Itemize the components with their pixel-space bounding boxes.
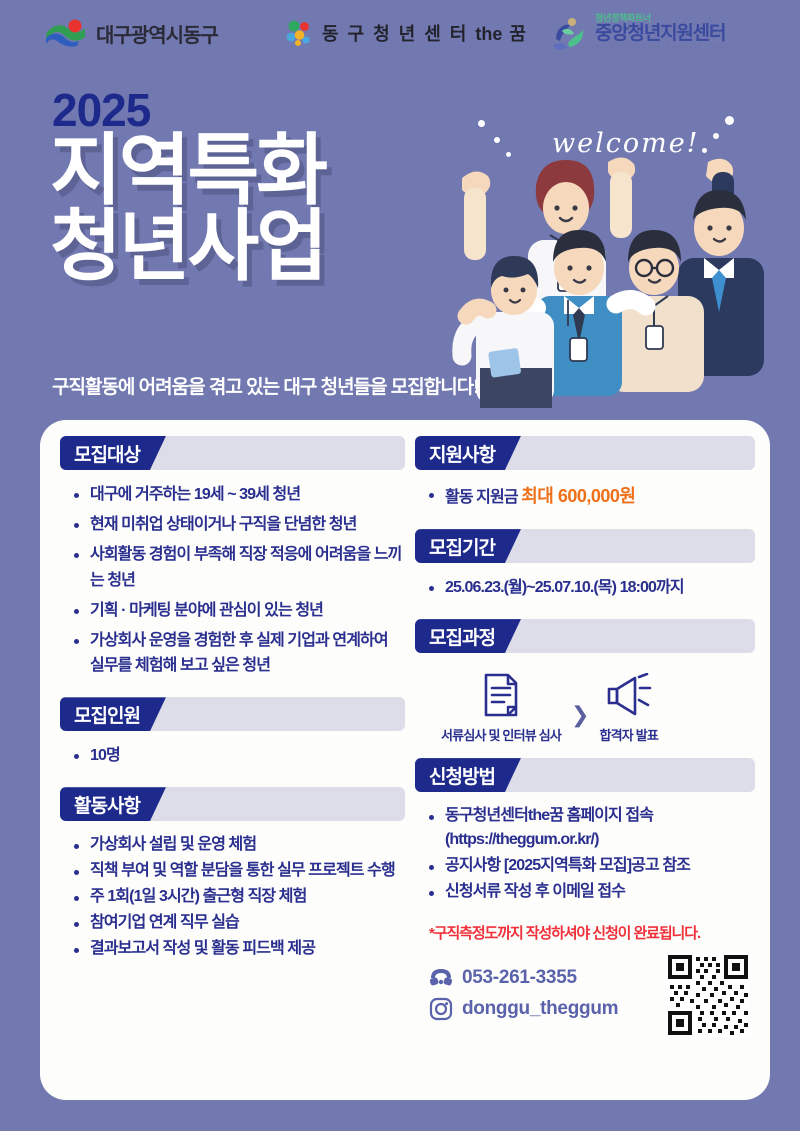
list-item: 직책 부여 및 역할 분담을 통한 실무 프로젝트 수행: [74, 859, 405, 883]
decor-dot: [725, 116, 734, 125]
contact-instagram: donggu_theggum: [462, 998, 618, 1020]
logo-bar: 대구광역시동구 동 구 청 년 센 터 the 꿈: [0, 0, 800, 66]
list-item: 대구에 거주하는 19세 ~ 39세 청년: [74, 482, 405, 508]
process-arrow-icon: ❯: [571, 702, 589, 728]
content-card: 모집대상 대구에 거주하는 19세 ~ 39세 청년 현재 미취업 상태이거나 …: [40, 420, 770, 1100]
section-label-apply: 신청방법: [415, 758, 521, 792]
qr-code-icon[interactable]: [666, 953, 750, 1042]
donggu-center-en: the: [475, 24, 502, 44]
list-item: 가상회사 운영을 경험한 후 실제 기업과 연계하여 실무를 체험해 보고 싶은…: [74, 628, 405, 680]
list-item: 10명: [74, 743, 405, 769]
apply-list: 동구청년센터the꿈 홈페이지 접속 (https://theggum.or.k…: [415, 804, 755, 904]
cheering-people-illustration: welcome!: [440, 100, 800, 430]
list-item: 25.06.23.(월)~25.07.10.(목) 18:00까지: [429, 575, 755, 601]
list-item: 결과보고서 작성 및 활동 피드백 제공: [74, 937, 405, 961]
list-item: 사회활동 경험이 부족해 직장 적응에 어려움을 느끼는 청년: [74, 542, 405, 594]
page-title: 지역특화 청년사업: [50, 132, 325, 285]
list-item: 활동 지원금 최대 600,000원: [429, 482, 755, 511]
contact-block: 053-261-3355 donggu_theggum: [415, 953, 755, 1042]
welcome-script-text: welcome!: [552, 128, 700, 159]
donggu-center-kr: 동 구 청 년 센 터: [322, 24, 468, 44]
decor-dot: [478, 120, 485, 127]
national-youth-support-center-logo: 청년정책파트너 중앙청년지원센터 National Youth Support …: [548, 13, 736, 53]
nysc-name: 중앙청년지원센터: [595, 24, 736, 43]
nysc-leaf-icon: [548, 13, 588, 53]
nysc-tagline: 청년정책파트너: [595, 14, 736, 23]
megaphone-announce-icon: [599, 671, 658, 719]
decor-dot: [506, 152, 511, 157]
contact-info: 053-261-3355 donggu_theggum: [429, 967, 618, 1029]
headcount-list: 10명: [60, 743, 405, 769]
contact-phone-row: 053-261-3355: [429, 967, 618, 989]
daegu-donggu-logo-text: 대구광역시동구: [96, 19, 218, 48]
section-label-support: 지원사항: [415, 436, 521, 470]
section-label-headcount: 모집인원: [60, 697, 166, 731]
decor-dot: [494, 137, 500, 143]
donggu-youth-center-logo-text: 동 구 청 년 센 터 the 꿈: [322, 20, 528, 46]
process-steps: 서류심사 및 인터뷰 심사 ❯ 합격자 발표: [415, 665, 755, 744]
decor-dot: [713, 133, 719, 139]
document-review-icon: [441, 671, 561, 719]
section-label-target: 모집대상: [60, 436, 166, 470]
list-item: 공지사항 [2025지역특화 모집]공고 참조: [429, 854, 755, 878]
list-item: 가상회사 설립 및 운영 체험: [74, 833, 405, 857]
section-header-process: 모집과정: [415, 619, 755, 653]
page-title-line1: 지역특화: [50, 132, 325, 208]
donggu-youth-center-logo: 동 구 청 년 센 터 the 꿈: [285, 18, 528, 48]
list-item: 주 1회(1일 3시간) 출근형 직장 체험: [74, 885, 405, 909]
process-step-1: 서류심사 및 인터뷰 심사: [441, 671, 561, 744]
daegu-wave-icon: [44, 18, 88, 48]
process-step-2: 합격자 발표: [599, 671, 658, 744]
contact-instagram-row: donggu_theggum: [429, 997, 618, 1021]
instagram-icon: [429, 997, 453, 1021]
list-item: 동구청년센터the꿈 홈페이지 접속 (https://theggum.or.k…: [429, 804, 755, 852]
activities-list: 가상회사 설립 및 운영 체험 직책 부여 및 역할 분담을 통한 실무 프로젝…: [60, 833, 405, 961]
section-header-headcount: 모집인원: [60, 697, 405, 731]
apply-note: *구직측정도까지 작성하셔야 신청이 완료됩니다.: [415, 922, 755, 943]
nysc-text-stack: 청년정책파트너 중앙청년지원센터 National Youth Support …: [595, 14, 736, 52]
nysc-name-en: National Youth Support Center: [595, 45, 736, 52]
left-column: 모집대상 대구에 거주하는 19세 ~ 39세 청년 현재 미취업 상태이거나 …: [60, 436, 405, 979]
list-item: 현재 미취업 상태이거나 구직을 단념한 청년: [74, 512, 405, 538]
section-header-target: 모집대상: [60, 436, 405, 470]
section-header-support: 지원사항: [415, 436, 755, 470]
poster-root: 대구광역시동구 동 구 청 년 센 터 the 꿈: [0, 0, 800, 1131]
contact-phone: 053-261-3355: [462, 967, 577, 989]
period-list: 25.06.23.(월)~25.07.10.(목) 18:00까지: [415, 575, 755, 601]
list-item: 신청서류 작성 후 이메일 접수: [429, 880, 755, 904]
dream-circles-icon: [285, 18, 315, 48]
section-header-apply: 신청방법: [415, 758, 755, 792]
support-amount: 최대 600,000원: [521, 486, 635, 506]
process-step-1-label: 서류심사 및 인터뷰 심사: [441, 725, 561, 744]
section-label-period: 모집기간: [415, 529, 521, 563]
daegu-donggu-logo: 대구광역시동구: [44, 18, 218, 48]
page-title-line2: 청년사업: [50, 208, 325, 284]
list-item: 기획 · 마케팅 분야에 관심이 있는 청년: [74, 598, 405, 624]
section-header-period: 모집기간: [415, 529, 755, 563]
donggu-center-dream: 꿈: [509, 24, 528, 44]
section-header-activities: 활동사항: [60, 787, 405, 821]
section-label-process: 모집과정: [415, 619, 521, 653]
target-list: 대구에 거주하는 19세 ~ 39세 청년 현재 미취업 상태이거나 구직을 단…: [60, 482, 405, 679]
list-item: 참여기업 연계 직무 실습: [74, 911, 405, 935]
telephone-icon: [429, 967, 453, 989]
decor-dot: [702, 148, 707, 153]
section-label-activities: 활동사항: [60, 787, 166, 821]
page-subtitle: 구직활동에 어려움을 겪고 있는 대구 청년들을 모집합니다!: [52, 372, 479, 399]
right-column: 지원사항 활동 지원금 최대 600,000원 모집기간 25.06.23.(월…: [415, 436, 755, 1042]
process-step-2-label: 합격자 발표: [599, 725, 658, 744]
support-list: 활동 지원금 최대 600,000원: [415, 482, 755, 511]
support-prefix: 활동 지원금: [445, 489, 518, 506]
